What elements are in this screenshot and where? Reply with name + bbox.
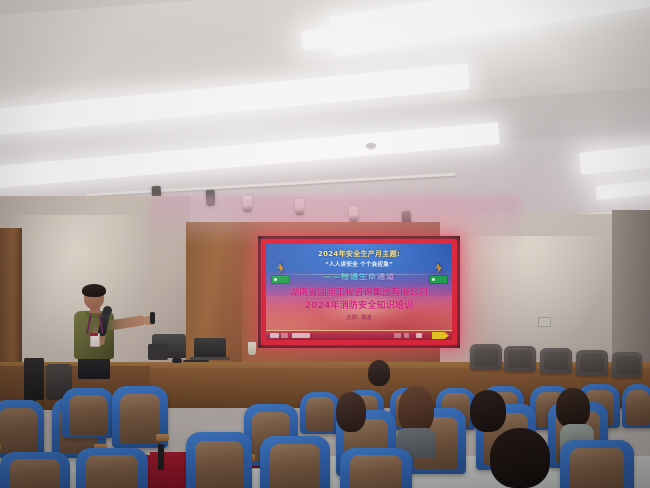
audience-seat-r1-1[interactable]	[300, 392, 340, 434]
windows-taskbar[interactable]	[266, 331, 452, 340]
seat-cushion	[120, 394, 160, 444]
stage-chair-4	[576, 350, 608, 376]
seat-cushion	[350, 455, 402, 488]
presentation-clicker	[150, 312, 155, 324]
audience-seat-f5[interactable]	[0, 452, 70, 488]
person-hair	[470, 390, 506, 432]
person-head	[368, 360, 390, 386]
presenter-hair	[82, 284, 106, 297]
smoke-detector-icon	[366, 143, 376, 148]
audience-seat-f3[interactable]	[340, 448, 412, 488]
wood-panel-left	[0, 228, 22, 378]
slide-theme-line: 2024年安全生产月主题:	[266, 251, 452, 258]
audience-person-3	[470, 390, 506, 432]
person-hair	[336, 392, 366, 432]
running-figure-icon: 🏃	[432, 264, 446, 275]
audience-seat-r1-8[interactable]	[622, 384, 650, 428]
stage-chair-3	[540, 348, 572, 374]
audience-person-4	[556, 388, 590, 428]
seat-cushion	[195, 441, 243, 488]
audience-seat-f2[interactable]	[260, 436, 330, 488]
seat-cushion	[86, 455, 138, 488]
audience-person-1	[336, 392, 366, 432]
seat-cushion	[626, 390, 649, 425]
pa-speaker	[24, 358, 44, 400]
seat-cushion	[570, 448, 623, 488]
running-figure-icon: 🏃	[274, 264, 288, 275]
seat-leg	[158, 444, 164, 470]
ceiling-light-bloom-b	[0, 70, 500, 180]
stage-chair-1	[470, 344, 502, 370]
taskbar-tray-icon-1[interactable]	[394, 333, 401, 338]
person-hair	[490, 428, 550, 488]
exit-sign-icon	[429, 275, 448, 284]
slide-presenter-credit: 主讲：陈波	[266, 316, 452, 321]
audience-seat-f4[interactable]	[560, 440, 634, 488]
taskbar-item-3[interactable]	[292, 333, 310, 338]
slide-slogan: “人人讲安全 个个会应急”	[266, 263, 452, 269]
taskbar-tray-icon-2[interactable]	[404, 333, 409, 338]
seat-cushion	[10, 459, 60, 488]
slide-slogan-sub: ——畅通生命通道	[266, 273, 452, 281]
emergency-exit-runner-icon-right: 🏃	[429, 264, 446, 284]
audience-person-5-foreground	[490, 428, 550, 488]
paper-cup	[248, 342, 256, 355]
taskbar-item-2[interactable]	[281, 333, 288, 338]
auditorium-photo: 2024年安全生产月主题: “人人讲安全 个个会应急” ——畅通生命通道 湖南省…	[0, 0, 650, 488]
stage-chair-5	[612, 352, 642, 378]
slide-course-title: 2024年消防安全知识培训	[266, 302, 452, 311]
audience-seat-f1[interactable]	[186, 432, 252, 488]
presenter-legs	[78, 357, 110, 379]
cable	[183, 360, 209, 362]
slide-organization-name: 湖南省国际工程咨询集团有限公司	[266, 289, 452, 298]
person-hair	[556, 388, 590, 428]
audience-seat-l1[interactable]	[0, 400, 44, 458]
speaker-presenting	[62, 286, 180, 378]
taskbar-tray-icon-3[interactable]	[416, 333, 422, 338]
seat-cushion	[69, 395, 106, 435]
audience-seat-l3[interactable]	[62, 388, 114, 438]
audience-seat-l4[interactable]	[112, 386, 168, 448]
taskbar-arrow-button[interactable]	[432, 332, 449, 339]
exit-sign-icon	[271, 275, 290, 284]
taskbar-item-1[interactable]	[270, 333, 279, 338]
audience-seat-f6[interactable]	[76, 448, 148, 488]
stage-chair-2	[504, 346, 536, 372]
microphone-head	[103, 306, 112, 315]
emergency-exit-runner-icon-left: 🏃	[271, 264, 288, 284]
seat-armrest	[156, 434, 169, 441]
badge-header-stripe	[90, 333, 98, 336]
audience-person-2	[398, 386, 434, 434]
person-hair	[398, 386, 434, 434]
laptop[interactable]	[194, 338, 226, 358]
seat-cushion	[306, 397, 335, 431]
audience-person-back	[368, 360, 390, 386]
seat-cushion	[0, 408, 37, 454]
seat-cushion	[270, 444, 320, 488]
led-presentation-screen[interactable]: 2024年安全生产月主题: “人人讲安全 个个会应急” ——畅通生命通道 湖南省…	[266, 244, 452, 340]
wall-socket	[538, 317, 551, 327]
